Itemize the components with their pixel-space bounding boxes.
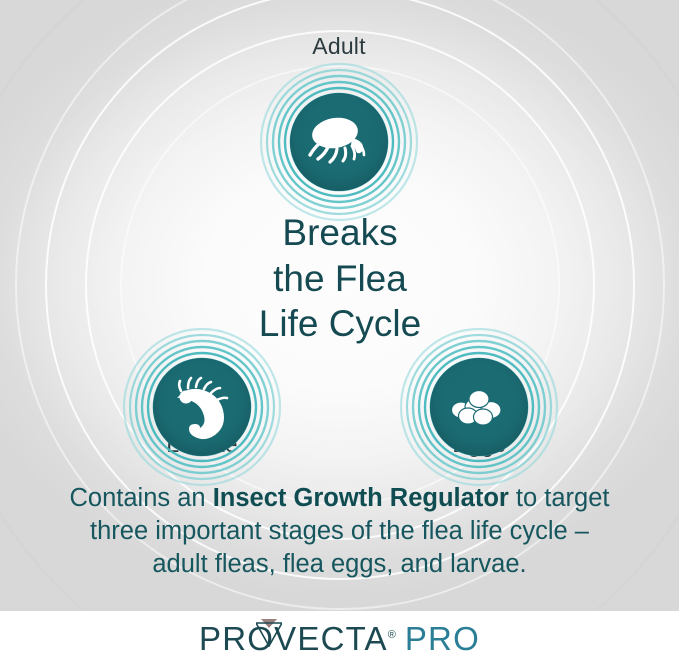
- brand-suffix-pro: PRO: [405, 620, 480, 658]
- brand-part-ecta: ECTA: [297, 620, 387, 657]
- brand-part-v: V: [274, 620, 297, 657]
- flea-larva-icon: [153, 358, 251, 456]
- description-emphasis: Insect Growth Regulator: [213, 484, 509, 512]
- headline-line-2: the Flea: [180, 256, 500, 302]
- node-larvae[interactable]: [122, 327, 282, 487]
- description-text: Contains an Insect Growth Regulator to t…: [30, 482, 649, 581]
- description-line-3: adult fleas, flea eggs, and larvae.: [30, 548, 649, 581]
- infographic-panel: Adult: [0, 0, 679, 611]
- flea-eggs-icon: [430, 358, 528, 456]
- description-line-2: three important stages of the flea life …: [30, 515, 649, 548]
- description-line-1-pre: Contains an: [70, 484, 213, 512]
- flea-life-cycle-infographic: Adult: [0, 0, 679, 662]
- registered-trademark-icon: ®: [388, 629, 396, 641]
- node-label-adult: Adult: [209, 33, 469, 60]
- node-adult[interactable]: [259, 62, 419, 222]
- node-eggs[interactable]: [399, 327, 559, 487]
- adult-flea-icon: [290, 93, 388, 191]
- brand-name-provecta: PROVECTA®: [199, 620, 396, 658]
- headline-line-3: Life Cycle: [180, 301, 500, 347]
- brand-part-pro: PRO: [199, 620, 274, 657]
- description-line-1-post: to target: [509, 484, 610, 512]
- headline-line-1: Breaks: [180, 210, 500, 256]
- page-title: Breaks the Flea Life Cycle: [180, 210, 500, 347]
- description-line-1: Contains an Insect Growth Regulator to t…: [30, 482, 649, 515]
- brand-logo[interactable]: PROVECTA® PRO: [0, 620, 679, 658]
- logo-strip: PROVECTA® PRO: [0, 611, 679, 662]
